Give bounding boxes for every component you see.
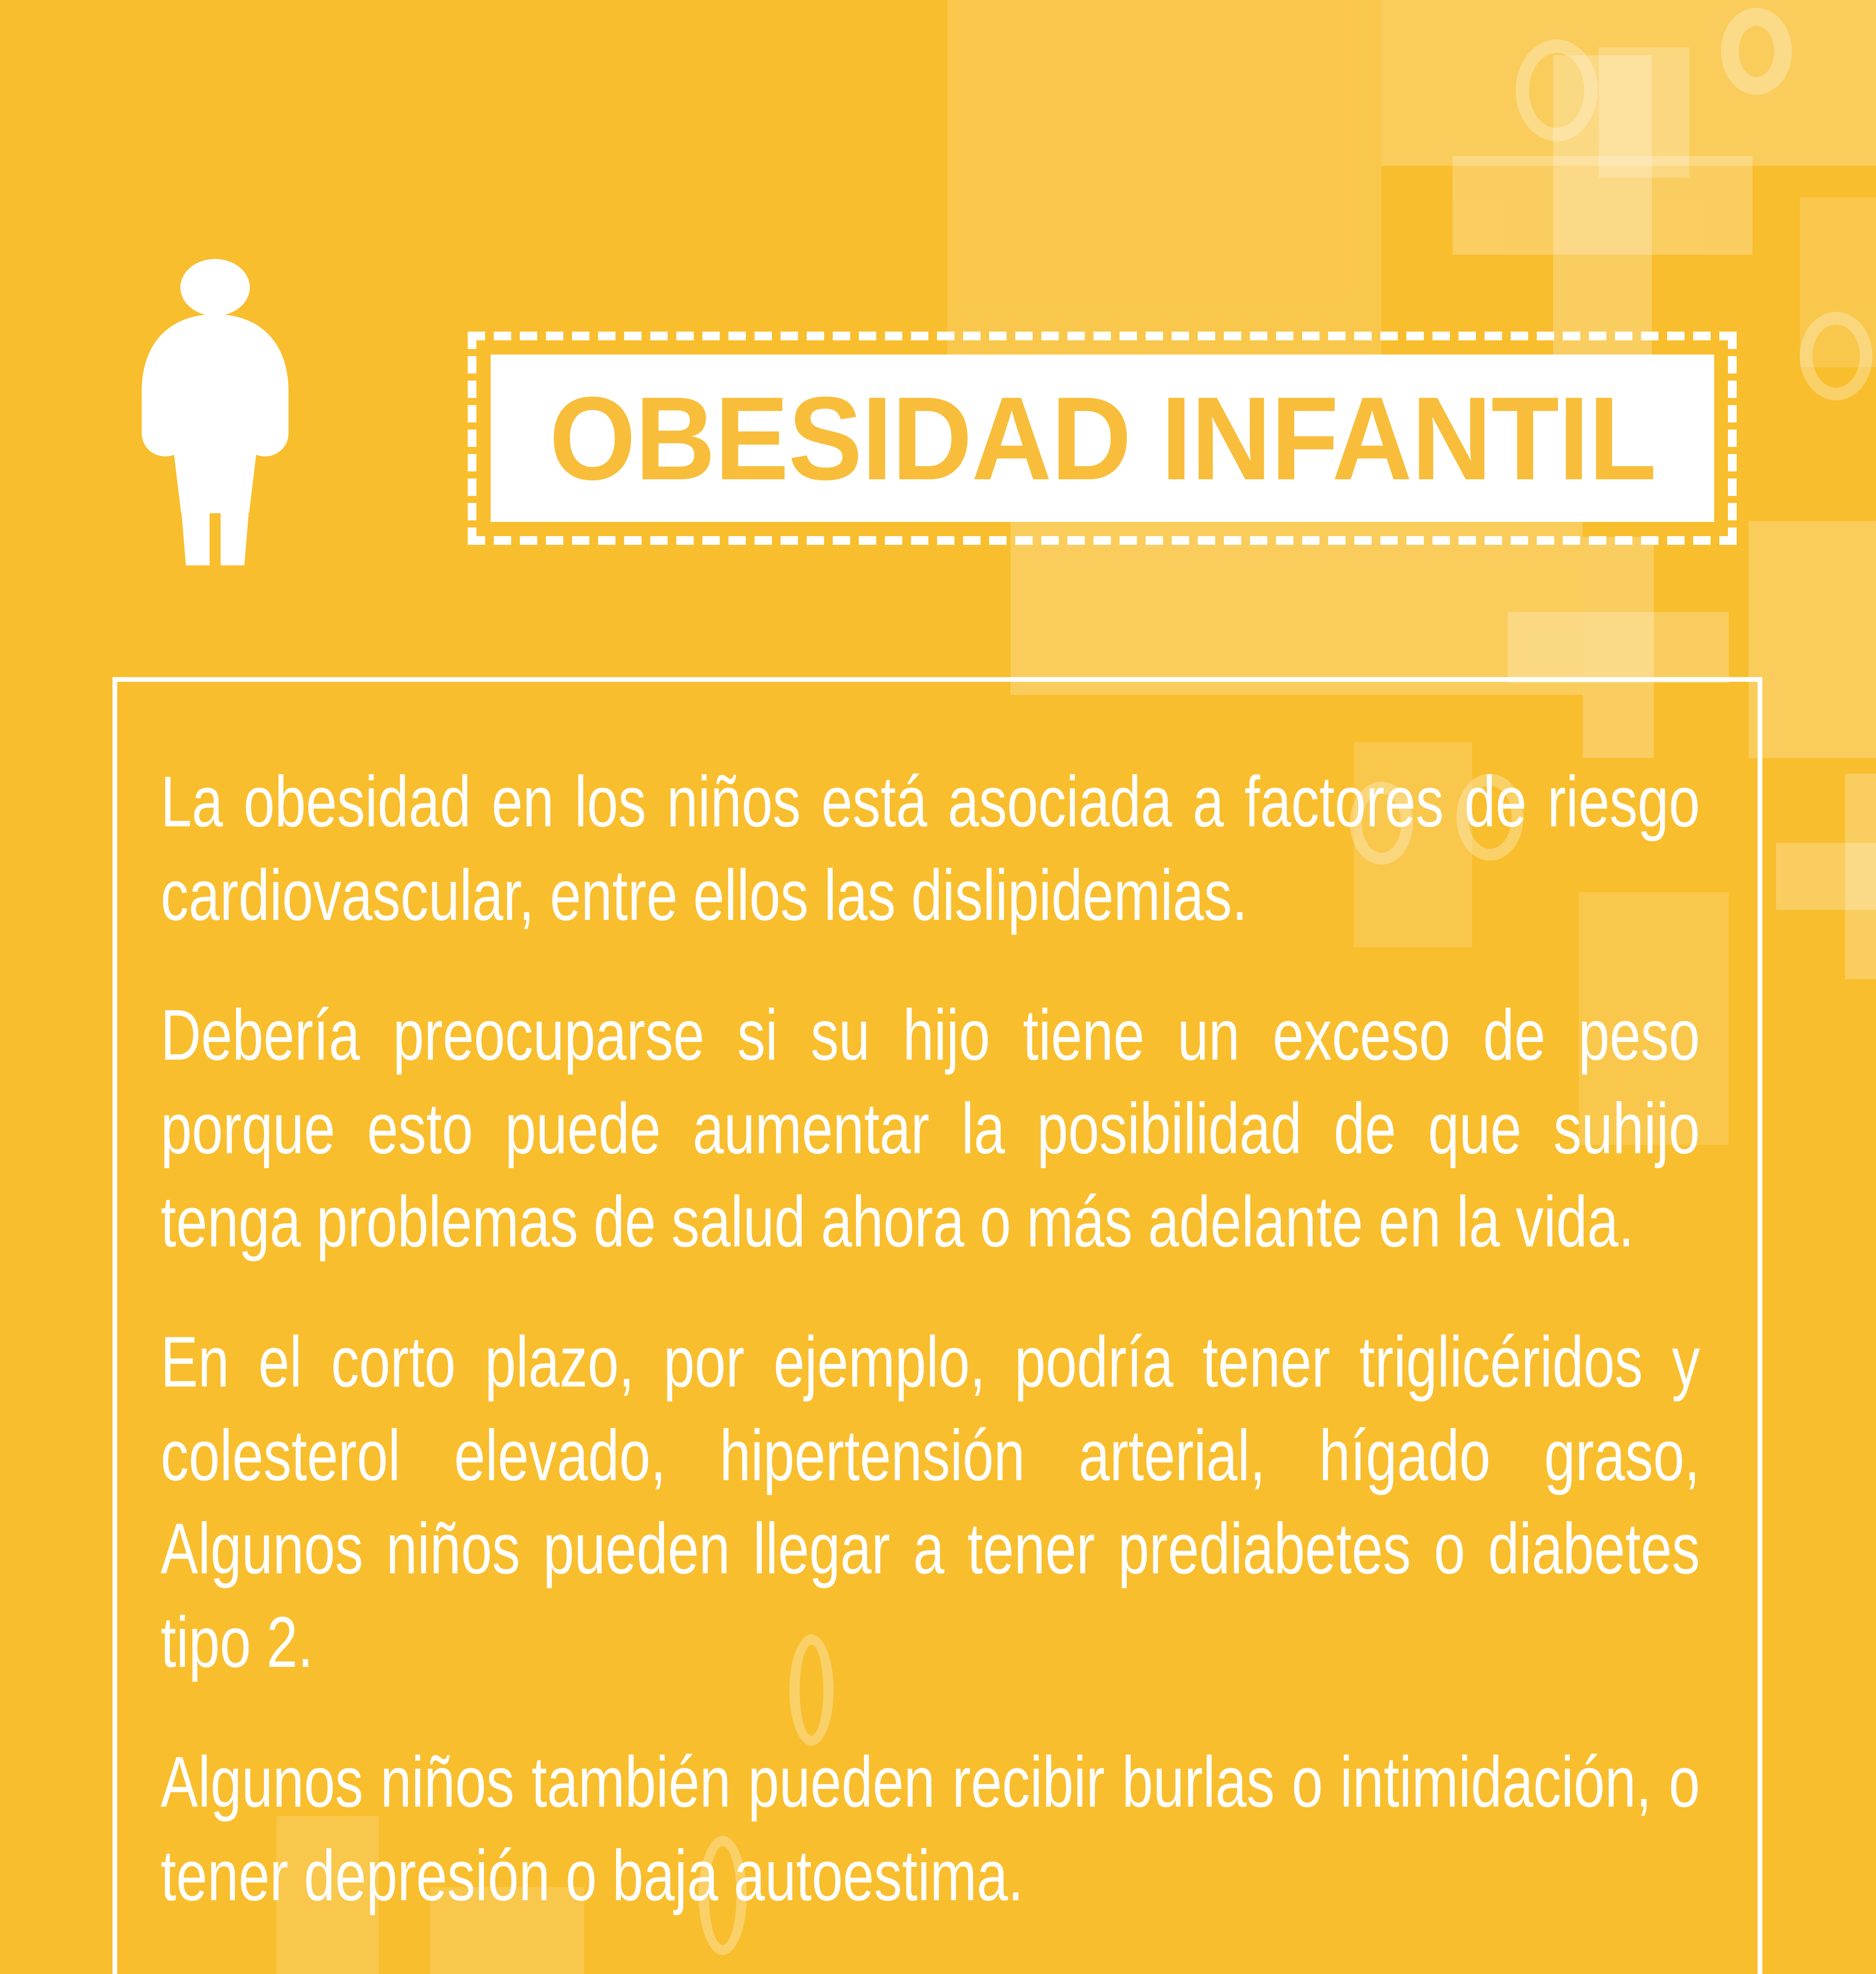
poster-root: OBESIDAD INFANTIL La obesidad en los niñ…: [0, 0, 1876, 1974]
paragraph-2: Debería preocuparse si su hijo tiene un …: [161, 988, 1700, 1268]
content-panel: La obesidad en los niños está asociada a…: [112, 677, 1762, 1974]
paragraph-3: En el corto plazo, por ejemplo, podría t…: [161, 1315, 1700, 1689]
plus-icon: [1776, 774, 1876, 979]
poster-header: OBESIDAD INFANTIL: [0, 0, 1876, 608]
paragraph-4: Algunos niños también pueden recibir bur…: [161, 1735, 1700, 1922]
title-box: OBESIDAD INFANTIL: [491, 355, 1714, 522]
page-title: OBESIDAD INFANTIL: [549, 379, 1656, 497]
content-paragraphs: La obesidad en los niños está asociada a…: [161, 755, 1700, 1922]
paragraph-1: La obesidad en los niños está asociada a…: [161, 755, 1700, 942]
obese-person-icon: [124, 253, 306, 569]
